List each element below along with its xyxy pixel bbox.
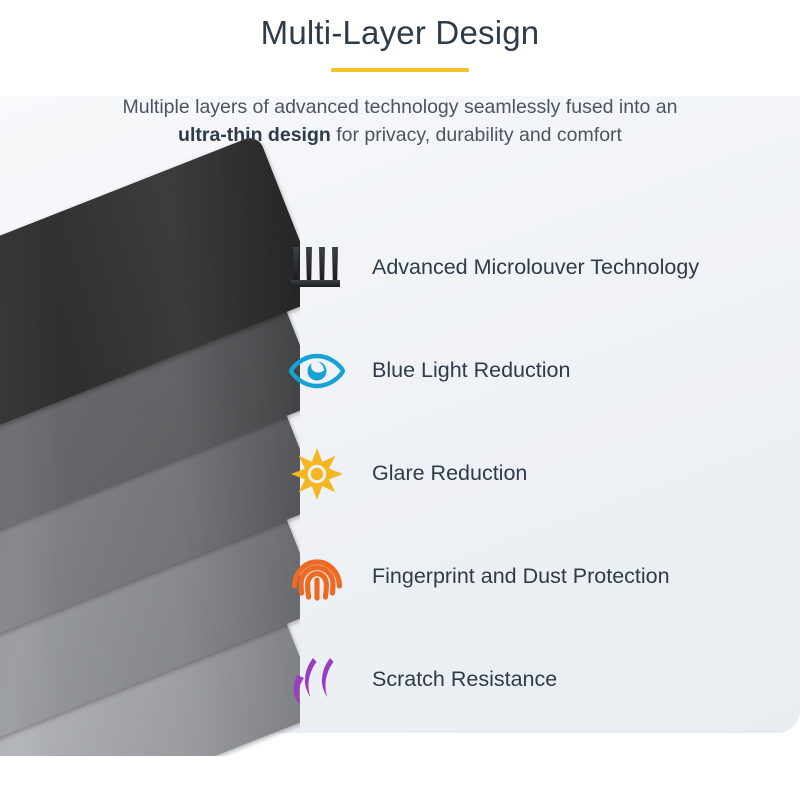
eye-icon xyxy=(286,342,348,400)
page-title: Multi-Layer Design xyxy=(0,0,800,55)
subtitle-emphasis: ultra-thin design xyxy=(178,124,331,146)
sun-icon xyxy=(286,445,348,503)
title-underline-rule xyxy=(331,68,469,72)
feature-label: Advanced Microlouver Technology xyxy=(372,254,699,281)
layer-stack-illustration xyxy=(0,96,300,756)
feature-list: Advanced Microlouver Technology Blue Lig… xyxy=(286,216,786,731)
fingerprint-icon xyxy=(286,548,348,606)
feature-row-microlouver: Advanced Microlouver Technology xyxy=(286,216,786,319)
feature-label: Glare Reduction xyxy=(372,460,527,487)
feature-label: Blue Light Reduction xyxy=(372,357,570,384)
subtitle-line-2: for privacy, durability and comfort xyxy=(331,124,622,146)
feature-row-scratch: Scratch Resistance xyxy=(286,628,786,731)
scratch-icon xyxy=(286,651,348,709)
feature-row-glare: Glare Reduction xyxy=(286,422,786,525)
multi-layer-design-infographic: Multi-Layer Design Multiple layers of ad… xyxy=(0,0,800,800)
feature-row-fingerprint: Fingerprint and Dust Protection xyxy=(286,525,786,628)
header: Multi-Layer Design xyxy=(0,0,800,72)
feature-row-blue-light: Blue Light Reduction xyxy=(286,319,786,422)
microlouver-icon xyxy=(286,239,348,297)
feature-label: Fingerprint and Dust Protection xyxy=(372,563,670,590)
subtitle: Multiple layers of advanced technology s… xyxy=(50,93,750,150)
feature-label: Scratch Resistance xyxy=(372,666,557,693)
subtitle-line-1: Multiple layers of advanced technology s… xyxy=(123,96,678,118)
